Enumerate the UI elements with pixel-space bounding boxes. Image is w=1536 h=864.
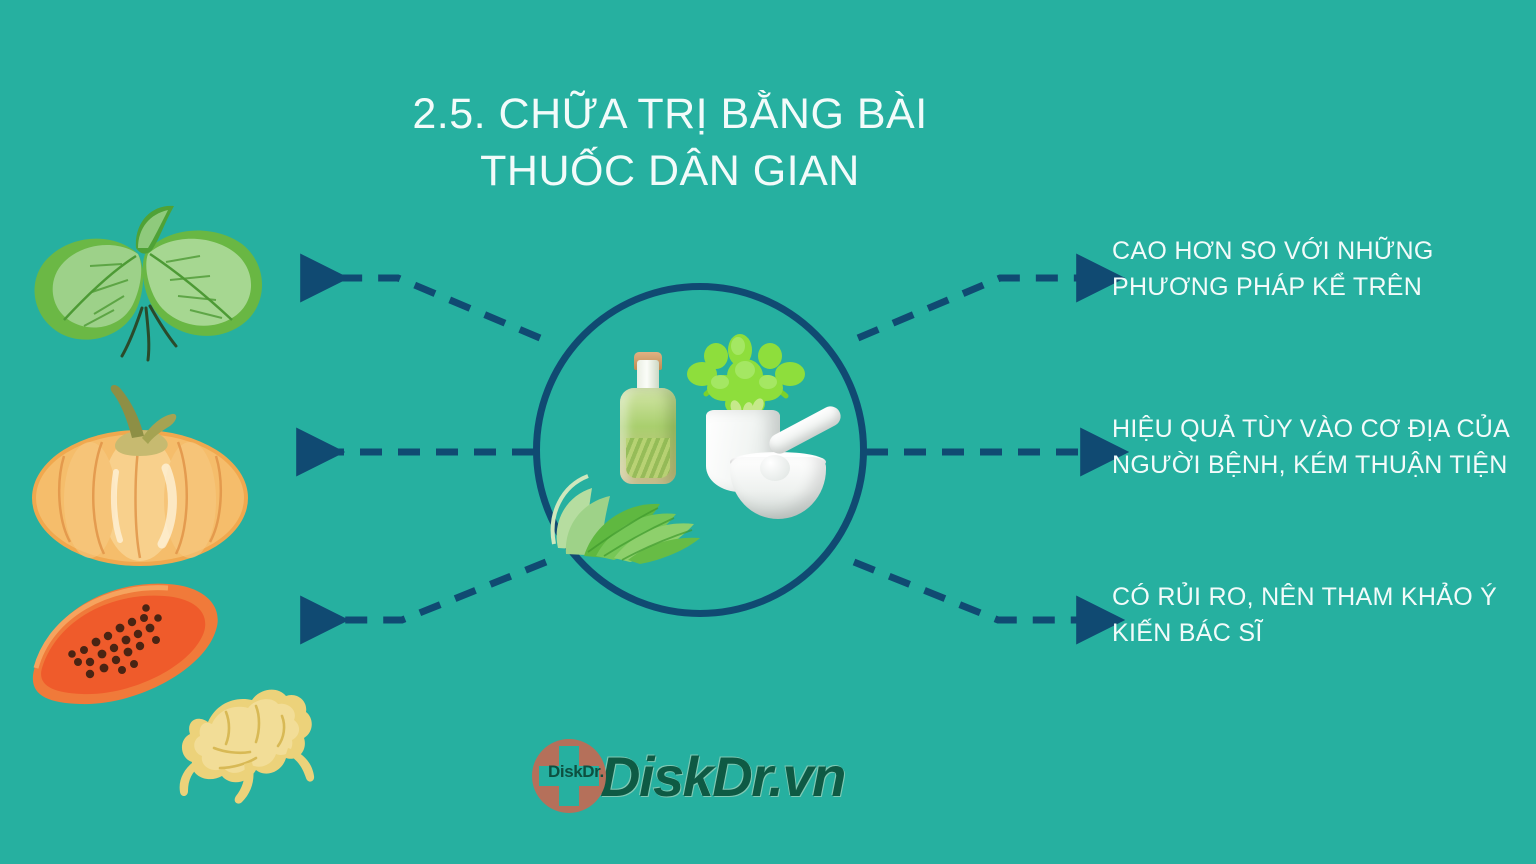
arrow-to-papaya: [310, 562, 546, 620]
pestle-head-icon: [760, 455, 790, 481]
page-title: 2.5. CHỮA TRỊ BẰNG BÀI THUỐC DÂN GIAN: [0, 86, 1340, 200]
logo-badge-text: DiskDr.: [548, 762, 604, 782]
betel-leaves-illustration: [18, 196, 288, 376]
callout-text-2: HIỆU QUẢ TÙY VÀO CƠ ĐỊA CỦA NGƯỜI BỆNH, …: [1112, 412, 1527, 483]
callout-text-3: CÓ RỦI RO, NÊN THAM KHẢO Ý KIẾN BÁC SĨ: [1112, 580, 1527, 651]
arrow-to-betel-leaves: [310, 278, 540, 338]
logo-wordmark: DiskDr.vn: [600, 744, 845, 809]
callout-text-1: CAO HƠN SO VỚI NHỮNG PHƯƠNG PHÁP KỂ TRÊN: [1112, 234, 1522, 305]
arrow-to-callout-1: [858, 278, 1086, 338]
pumpkin-illustration: [20, 376, 260, 576]
arrow-to-callout-3: [854, 562, 1086, 620]
ginger-illustration: [160, 652, 320, 812]
infographic-slide: 2.5. CHỮA TRỊ BẰNG BÀI THUỐC DÂN GIAN: [0, 0, 1536, 864]
diskdr-logo[interactable]: DiskDr. DiskDr.vn: [532, 736, 845, 816]
green-leafy-herbs-icon: [548, 452, 718, 564]
